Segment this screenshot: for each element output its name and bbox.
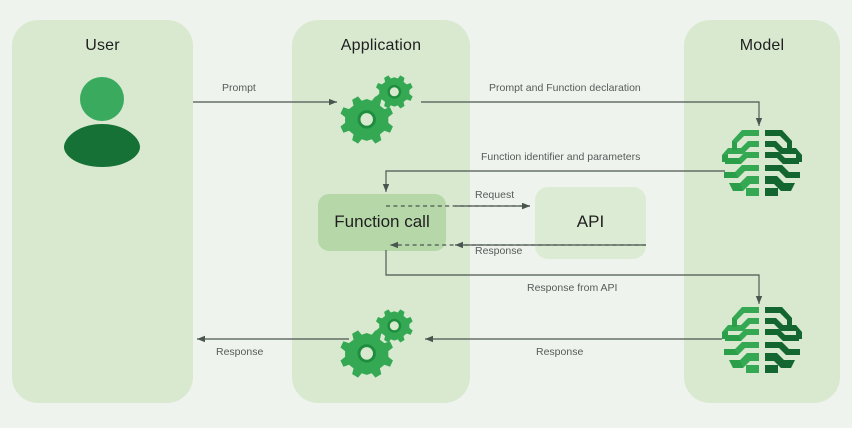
brain-icon-top bbox=[722, 129, 802, 197]
lane-title-application: Application bbox=[292, 37, 470, 55]
brain-icon-bottom bbox=[722, 306, 802, 374]
edge-label-function-identifier: Function identifier and parameters bbox=[481, 151, 640, 163]
edge-label-response-from-api: Response from API bbox=[527, 282, 617, 294]
node-function-call-label: Function call bbox=[318, 212, 446, 232]
diagram-canvas: User Application Model Function call API… bbox=[0, 0, 852, 428]
edge-label-prompt-declaration: Prompt and Function declaration bbox=[489, 82, 641, 94]
edge-label-response: Response bbox=[475, 245, 522, 257]
edge-label-prompt: Prompt bbox=[222, 82, 256, 94]
node-api-label: API bbox=[535, 212, 646, 232]
lane-title-model: Model bbox=[684, 37, 840, 55]
lane-title-user: User bbox=[12, 37, 193, 55]
edge-label-request: Request bbox=[475, 189, 514, 201]
edge-label-model-response: Response bbox=[536, 346, 583, 358]
edge-label-application-response: Response bbox=[216, 346, 263, 358]
